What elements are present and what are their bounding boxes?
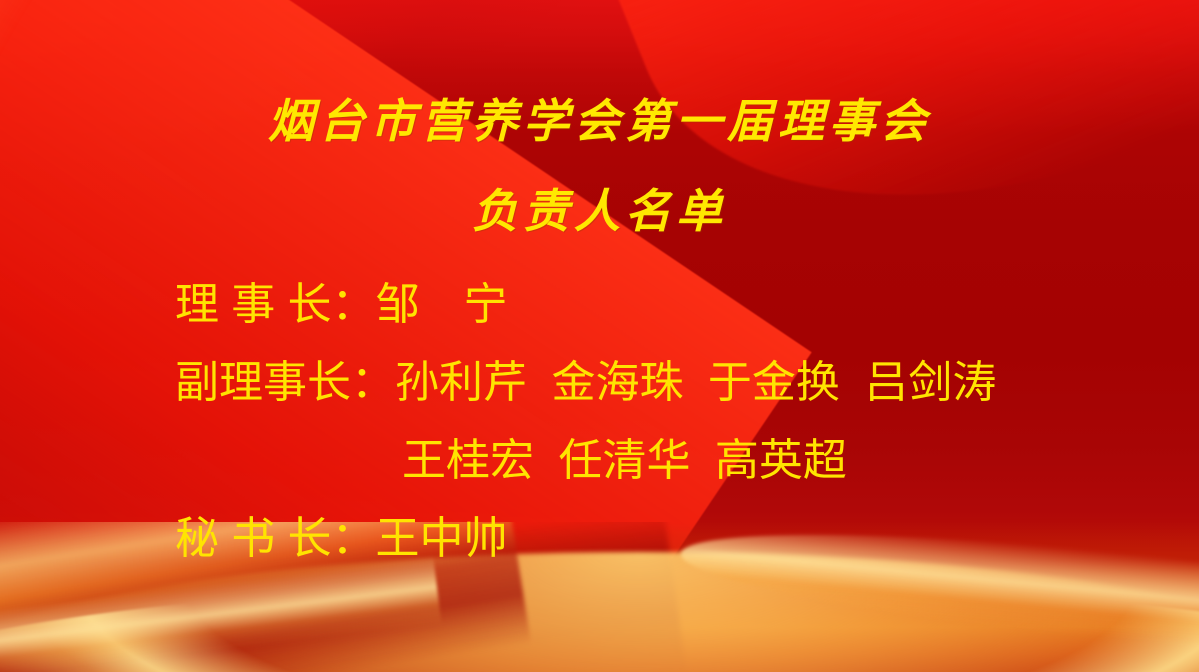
roster-row-chairman: 理 事 长： 邹 宁 — [175, 283, 996, 361]
title-line-1: 烟台市营养学会第一届理事会 — [0, 98, 1199, 144]
officer-roster: 理 事 长： 邹 宁 副理事长： 孙利芹 金海珠 于金换 吕剑涛 王桂宏 任清华… — [175, 283, 996, 595]
roster-row-vice-chairmen: 副理事长： 孙利芹 金海珠 于金换 吕剑涛 — [175, 361, 996, 439]
title-line-2: 负责人名单 — [0, 188, 1199, 234]
roster-names-chairman: 邹 宁 — [375, 283, 507, 327]
roster-row-secretary-general: 秘 书 长： 王中帅 — [175, 517, 996, 595]
roster-row-vice-chairmen-cont: 王桂宏 任清华 高英超 — [175, 439, 996, 517]
roster-label-secretary-general: 秘 书 长： — [175, 517, 375, 561]
roster-names-vice-chairmen: 孙利芹 金海珠 于金换 吕剑涛 — [395, 361, 996, 405]
slide-title: 烟台市营养学会第一届理事会 负责人名单 — [0, 98, 1199, 234]
presentation-slide: 烟台市营养学会第一届理事会 负责人名单 理 事 长： 邹 宁 副理事长： 孙利芹… — [0, 0, 1199, 672]
roster-label-chairman: 理 事 长： — [175, 283, 375, 327]
slide-content: 烟台市营养学会第一届理事会 负责人名单 理 事 长： 邹 宁 副理事长： 孙利芹… — [0, 0, 1199, 672]
roster-names-secretary-general: 王中帅 — [375, 517, 507, 561]
roster-label-vice-chairmen: 副理事长： — [175, 361, 395, 405]
roster-names-vice-chairmen-cont: 王桂宏 任清华 高英超 — [402, 439, 847, 483]
